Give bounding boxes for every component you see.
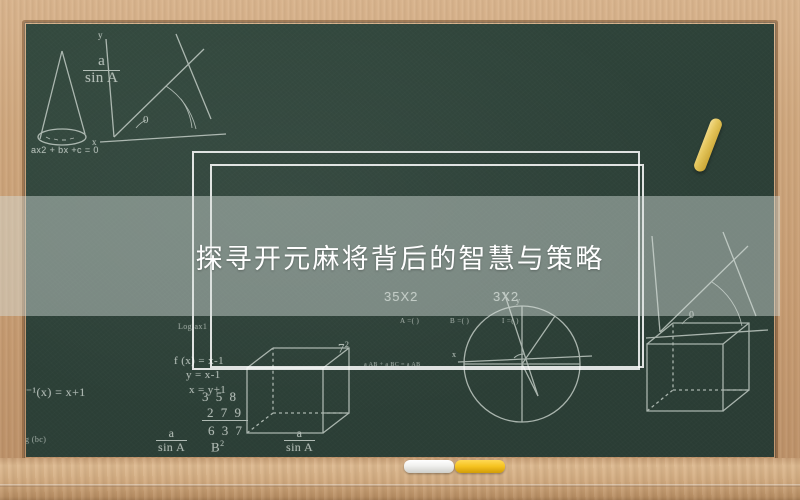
chalk-sine-mid-denominator: sin A — [284, 441, 315, 454]
chalk-note-sine-rule-left: a sin A — [156, 427, 187, 455]
chalk-b-exponent: 2 — [220, 439, 224, 448]
page-title: 探寻开元麻将背后的智慧与策略 — [0, 196, 800, 316]
chalk-angle-label-topleft: 0 — [143, 114, 149, 126]
chalk-axis-label-x-topleft: x — [92, 137, 97, 147]
chalk-sine-left-numerator: a — [156, 427, 187, 441]
white-chalk-stick — [404, 460, 454, 473]
chalk-sine-left-denominator: sin A — [156, 441, 187, 454]
yellow-chalk-stick-tray — [455, 460, 505, 473]
chalk-label-alog: alog (bc) — [26, 435, 46, 444]
chalk-division-rule-line — [202, 420, 248, 421]
chalk-note-function-line-2: y = x-1 — [186, 369, 221, 381]
chalk-fraction-denominator: sin A — [83, 71, 120, 87]
chalk-note-b-squared: B2 — [211, 439, 224, 455]
chalk-sine-mid-numerator: a — [284, 427, 315, 441]
chalk-axis-label-y-topleft: y — [98, 30, 103, 40]
chalk-tray — [0, 458, 800, 500]
chalk-note-quadratic: ax2 + bx +c = 0 — [31, 145, 99, 155]
chalk-note-sine-rule-top: a sin A — [83, 54, 120, 87]
chalk-division-row-1: 3 5 8 — [202, 389, 238, 405]
chalk-division-row-3: 6 3 7 — [208, 423, 244, 439]
chalkboard-banner: a sin A ax2 + bx +c = 0 y x 0 0 f (x) = … — [0, 0, 800, 500]
chalk-fraction-numerator: a — [83, 54, 120, 71]
chalk-tray-lip — [0, 484, 800, 487]
chalk-note-sine-rule-mid: a sin A — [284, 427, 315, 455]
chalk-note-inverse-function: f ⁻¹(x) = x+1 — [26, 385, 86, 400]
chalk-division-row-2: 2 7 9 — [207, 405, 243, 421]
chalk-b-base: B — [211, 439, 220, 454]
